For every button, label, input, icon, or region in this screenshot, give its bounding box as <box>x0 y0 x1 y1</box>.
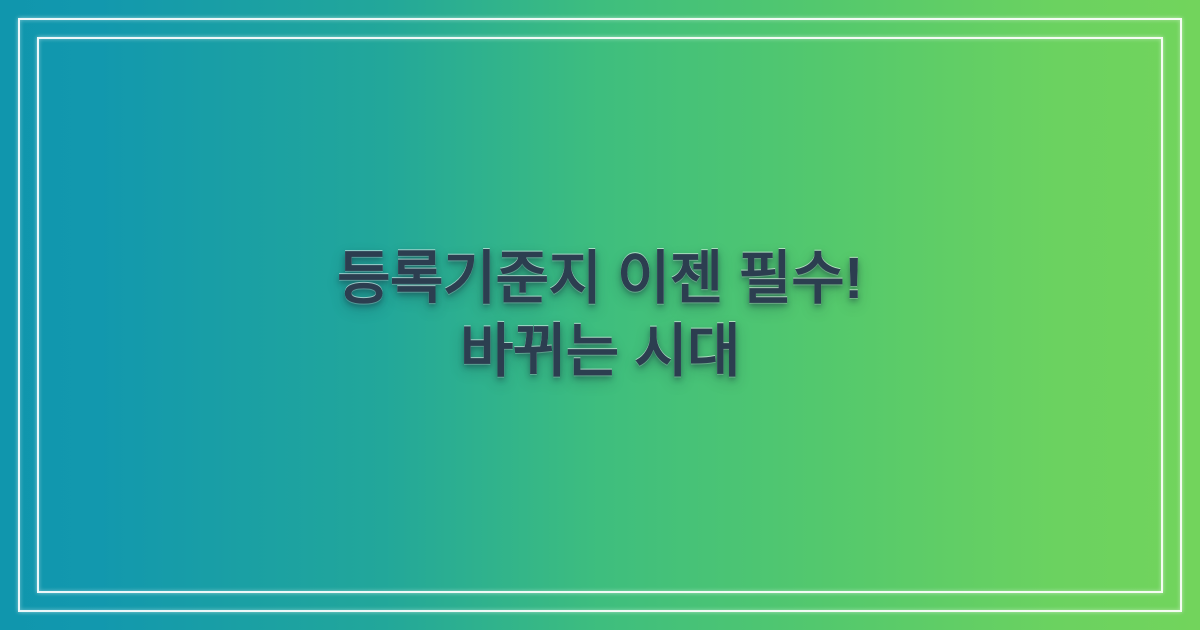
headline-line-1: 등록기준지 이젠 필수! <box>337 242 863 315</box>
headline-block: 등록기준지 이젠 필수! 바뀌는 시대 <box>0 0 1200 630</box>
headline-line-2: 바뀌는 시대 <box>460 315 740 388</box>
thumbnail-card: 등록기준지 이젠 필수! 바뀌는 시대 <box>0 0 1200 630</box>
